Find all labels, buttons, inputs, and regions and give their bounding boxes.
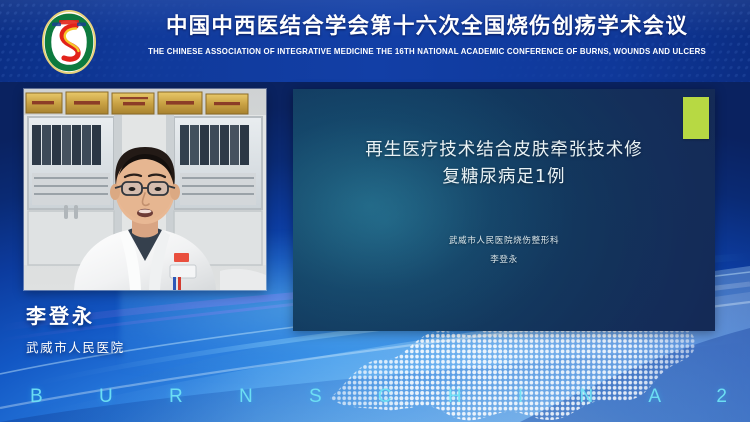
slide-affiliation: 武威市人民医院烧伤整形科	[449, 236, 559, 246]
header-text-block: 中国中西医结合学会第十六次全国烧伤创疡学术会议 THE CHINESE ASSO…	[112, 12, 742, 56]
slide-presenter: 李登永	[293, 252, 715, 268]
speaker-lower-third: 李登永 武威市人民医院	[26, 300, 286, 356]
speaker-video-feed[interactable]	[24, 89, 266, 290]
association-emblem-logo	[36, 9, 102, 75]
slide-subtitle: 武威市人民医院烧伤整形科 李登永	[293, 233, 715, 268]
broadcast-screen: 中国中西医结合学会第十六次全国烧伤创疡学术会议 THE CHINESE ASSO…	[0, 0, 750, 422]
presentation-slide[interactable]: 再生医疗技术结合皮肤牵张技术修 复糖尿病足1例 武威市人民医院烧伤整形科 李登永	[293, 89, 715, 331]
slide-title-line2: 复糖尿病足1例	[327, 164, 681, 191]
slide-title: 再生医疗技术结合皮肤牵张技术修 复糖尿病足1例	[327, 137, 681, 191]
slide-background-tint	[293, 89, 715, 331]
slide-title-line1: 再生医疗技术结合皮肤牵张技术修	[327, 137, 681, 164]
conference-title-cn: 中国中西医结合学会第十六次全国烧伤创疡学术会议	[112, 12, 742, 42]
conference-title-en: THE CHINESE ASSOCIATION OF INTEGRATIVE M…	[121, 47, 732, 56]
speaker-name: 李登永	[26, 300, 286, 329]
event-wordmark: B U R N S C H I N A 2 0 2 0	[30, 386, 730, 414]
conference-header-banner: 中国中西医结合学会第十六次全国烧伤创疡学术会议 THE CHINESE ASSO…	[0, 0, 750, 82]
speaker-organization: 武威市人民医院	[26, 337, 286, 356]
slide-accent-block	[683, 97, 709, 139]
